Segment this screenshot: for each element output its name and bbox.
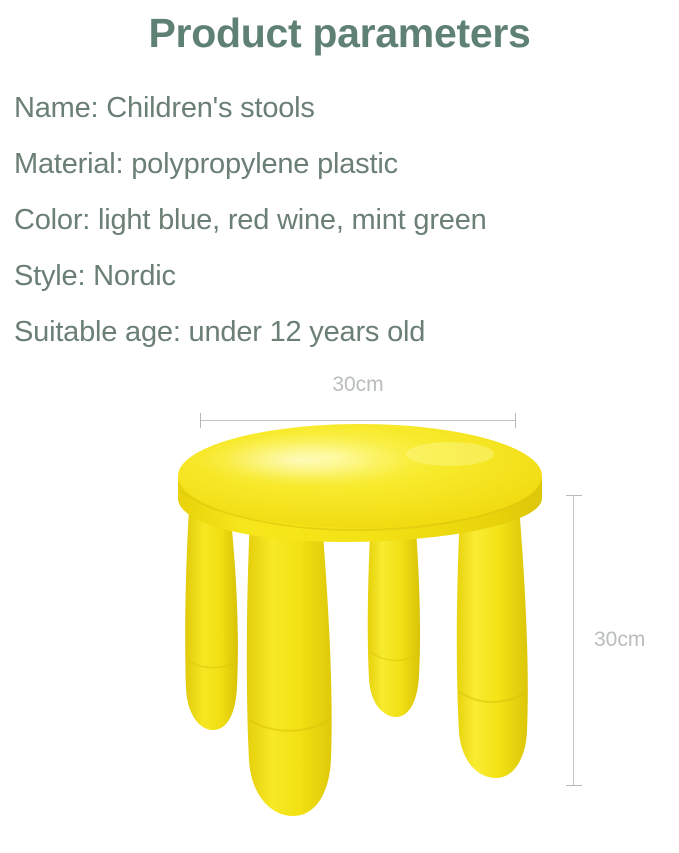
height-dimension-cap-top bbox=[566, 495, 582, 496]
width-dimension-label: 30cm bbox=[200, 373, 516, 397]
spec-row-suitable-age: Suitable age: under 12 years old bbox=[14, 304, 679, 360]
stool-illustration bbox=[150, 420, 570, 850]
page-title: Product parameters bbox=[0, 10, 679, 57]
spec-row-style: Style: Nordic bbox=[14, 248, 679, 304]
stool-seat bbox=[178, 424, 542, 542]
height-dimension-rule bbox=[573, 495, 574, 786]
stool-leg-front-left bbox=[247, 497, 332, 816]
stool-leg-front-right bbox=[457, 495, 528, 778]
specification-list: Name: Children's stools Material: polypr… bbox=[14, 80, 679, 360]
product-diagram: 30cm bbox=[0, 360, 679, 853]
height-dimension-line bbox=[566, 495, 582, 787]
height-dimension-cap-bottom bbox=[566, 785, 582, 786]
height-dimension-label: 30cm bbox=[594, 628, 645, 652]
product-parameters-page: Product parameters Name: Children's stoo… bbox=[0, 0, 679, 853]
spec-row-name: Name: Children's stools bbox=[14, 80, 679, 136]
spec-row-material: Material: polypropylene plastic bbox=[14, 136, 679, 192]
spec-row-color: Color: light blue, red wine, mint green bbox=[14, 192, 679, 248]
